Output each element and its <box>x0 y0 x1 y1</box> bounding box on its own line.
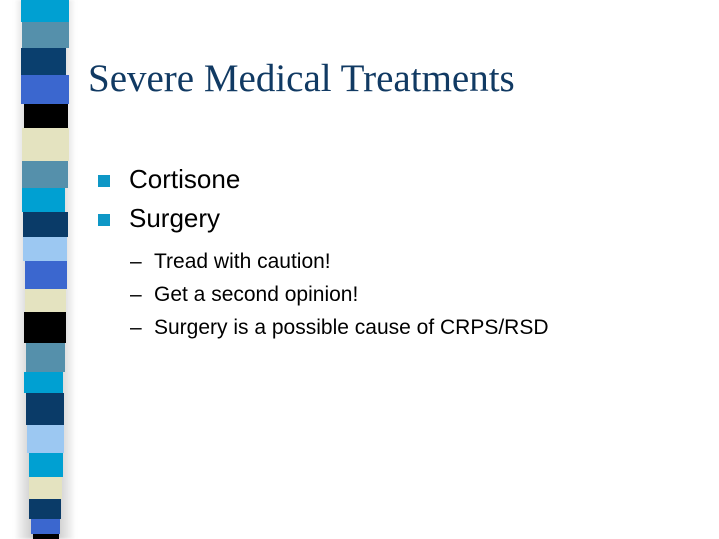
sub-list-item-label: Get a second opinion! <box>154 283 358 306</box>
left-striped-ribbon <box>0 0 92 539</box>
ribbon-band <box>21 48 66 75</box>
ribbon-band <box>23 237 67 261</box>
ribbon-bands <box>21 0 69 539</box>
ribbon-band <box>26 393 64 425</box>
list-item: Surgery <box>98 199 710 238</box>
ribbon-band <box>25 261 67 289</box>
sub-list-item-label: Tread with caution! <box>154 250 331 273</box>
square-bullet-icon <box>98 214 110 226</box>
list-item-label: Surgery <box>129 203 220 233</box>
ribbon-band <box>23 212 68 237</box>
ribbon-band <box>33 534 59 539</box>
ribbon-band <box>21 75 69 104</box>
ribbon-band <box>25 289 66 312</box>
ribbon-band <box>22 128 69 161</box>
dash-bullet-icon: – <box>130 311 142 344</box>
list-item-label: Cortisone <box>129 164 240 194</box>
ribbon-band <box>29 499 61 519</box>
page-title: Severe Medical Treatments <box>88 56 688 102</box>
ribbon-band <box>31 519 60 534</box>
sub-list-item: – Get a second opinion! <box>130 278 710 311</box>
sub-list-item-label: Surgery is a possible cause of CRPS/RSD <box>154 316 549 339</box>
ribbon-band <box>24 104 68 128</box>
ribbon-band <box>22 22 69 48</box>
sub-list-item: – Surgery is a possible cause of CRPS/RS… <box>130 311 710 344</box>
sub-list-item: – Tread with caution! <box>130 245 710 278</box>
dash-bullet-icon: – <box>130 278 142 311</box>
ribbon-band <box>24 372 63 393</box>
ribbon-band <box>27 425 64 453</box>
ribbon-band <box>22 188 65 212</box>
ribbon-band <box>29 477 62 499</box>
ribbon-band <box>22 161 68 188</box>
slide-canvas: Severe Medical Treatments Cortisone Surg… <box>0 0 719 539</box>
ribbon-band <box>24 312 66 343</box>
list-item: Cortisone <box>98 160 710 199</box>
ribbon-band <box>26 343 65 372</box>
ribbon-band <box>29 453 63 477</box>
ribbon-band <box>21 0 69 22</box>
square-bullet-icon <box>98 175 110 187</box>
bullet-list: Cortisone Surgery – Tread with caution! … <box>98 160 710 344</box>
dash-bullet-icon: – <box>130 245 142 278</box>
sub-bullet-list: – Tread with caution! – Get a second opi… <box>98 245 710 344</box>
